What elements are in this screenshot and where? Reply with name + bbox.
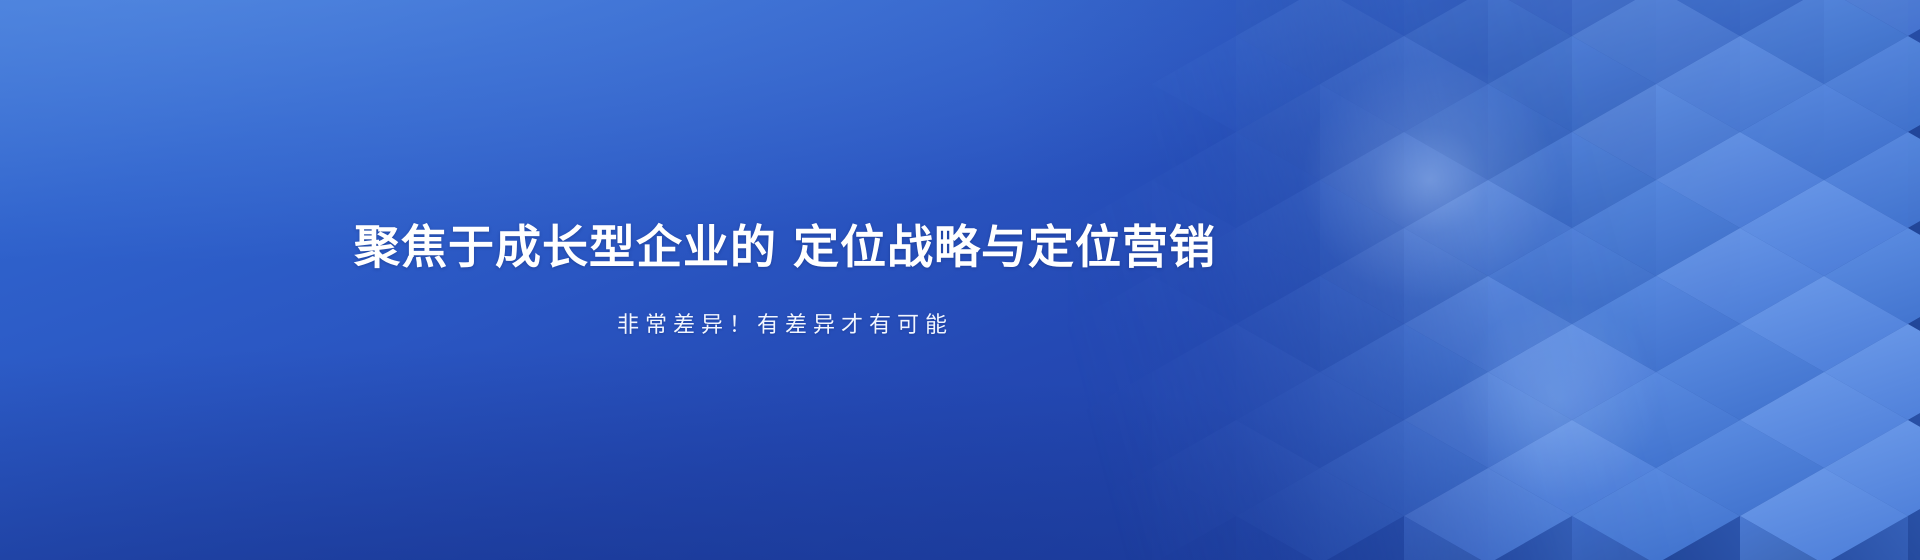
banner-subheadline: 非常差异！有差异才有可能 (617, 307, 953, 339)
headline-segment-secondary: 定位战略与定位营销 (793, 221, 1216, 273)
headline-segment-primary: 聚焦于成长型企业的 (354, 221, 777, 273)
banner-copy-block: 聚焦于成长型企业的定位战略与定位营销 非常差异！有差异才有可能 (0, 0, 1570, 560)
hero-banner: 聚焦于成长型企业的定位战略与定位营销 非常差异！有差异才有可能 (0, 0, 1920, 560)
banner-headline: 聚焦于成长型企业的定位战略与定位营销 (354, 221, 1216, 274)
